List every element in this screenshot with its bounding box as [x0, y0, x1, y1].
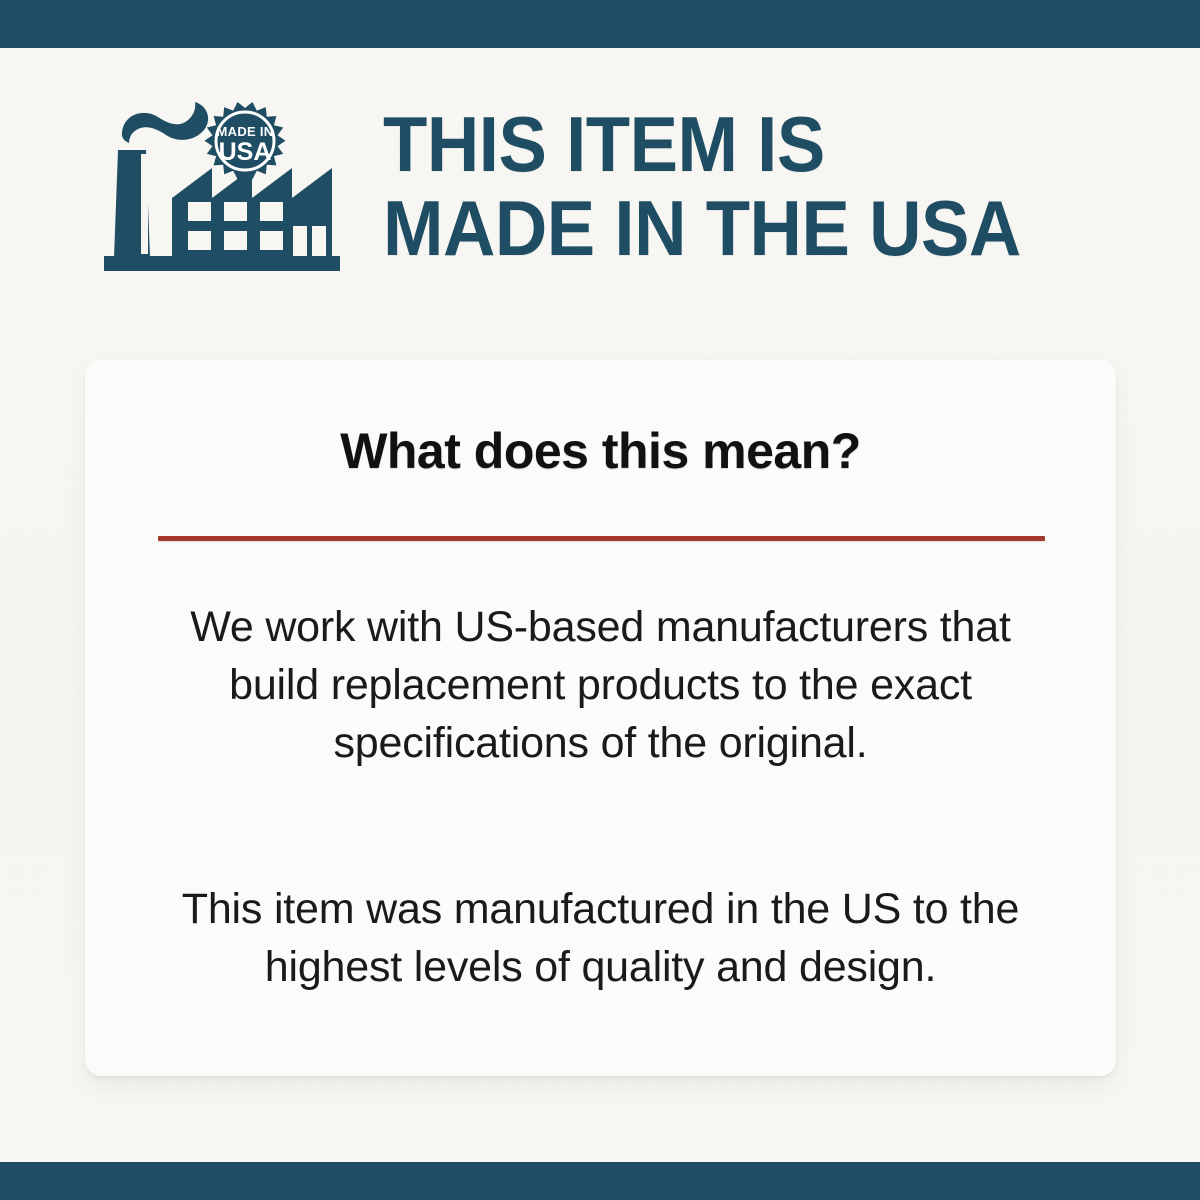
page-title-line-2: MADE IN THE USA — [383, 186, 1118, 270]
page-title-line-1: THIS ITEM IS — [383, 102, 1118, 186]
made-in-usa-logo: MADE IN USA — [100, 98, 345, 278]
made-in-usa-badge-icon: MADE IN USA — [205, 102, 286, 179]
card-paragraph-2: This item was manufactured in the US to … — [163, 880, 1038, 996]
top-accent-bar — [0, 0, 1200, 48]
factory-icon: MADE IN USA — [100, 98, 345, 278]
heading-divider — [158, 536, 1045, 541]
info-card: What does this mean? We work with US-bas… — [85, 360, 1116, 1076]
card-paragraph-1: We work with US-based manufacturers that… — [163, 598, 1038, 772]
card-heading: What does this mean? — [85, 422, 1116, 480]
page-title: THIS ITEM IS MADE IN THE USA — [383, 102, 1173, 270]
header: MADE IN USA THIS ITEM IS MADE IN THE USA — [0, 88, 1200, 288]
bottom-accent-bar — [0, 1162, 1200, 1200]
badge-line2: USA — [219, 138, 272, 166]
badge-line1: MADE IN — [217, 124, 274, 139]
